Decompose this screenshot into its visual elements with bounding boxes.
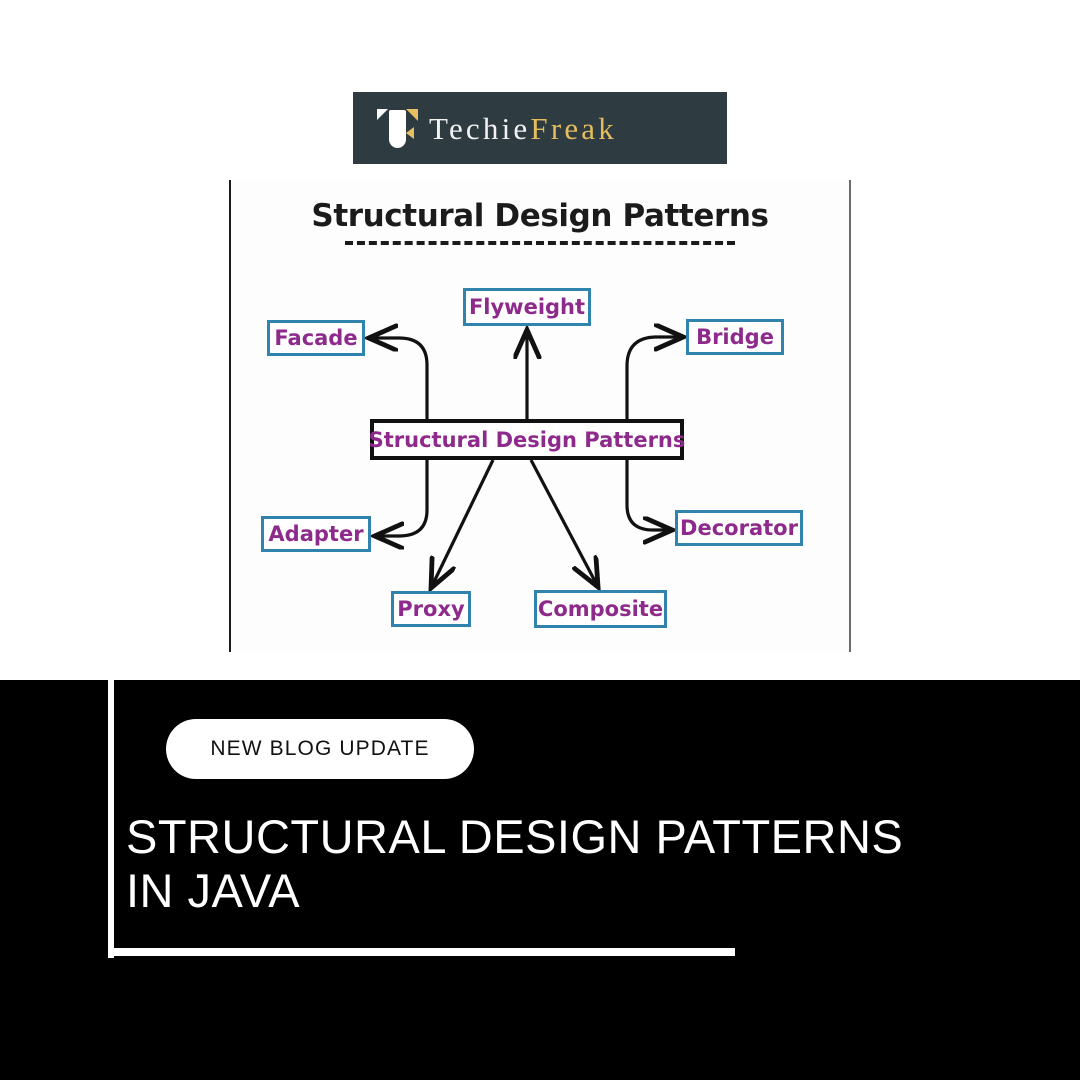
promo-headline-line1: STRUCTURAL DESIGN PATTERNS [126,810,946,864]
diagram-node-label: Facade [274,326,357,350]
promo-headline: STRUCTURAL DESIGN PATTERNS IN JAVA [126,810,946,918]
arrow-to-proxy [432,460,493,586]
diagram-node-label: Proxy [397,597,464,621]
diagram-node-composite[interactable]: Composite [534,590,667,628]
promo-headline-line2: IN JAVA [126,864,946,918]
poster-canvas: TechieFreak Structural Design Patterns [0,0,1080,1080]
arrow-to-bridge [627,337,681,419]
arrow-to-adapter [377,460,427,536]
diagram-node-label: Bridge [696,325,774,349]
diagram-node-label: Adapter [268,522,363,546]
arrow-to-facade [371,338,427,419]
diagram-node-label: Composite [538,597,663,621]
diagram-arrow-layer [231,180,853,652]
arrow-to-composite [531,460,597,585]
diagram-panel: Structural Design Patterns [229,180,851,652]
promo-banner-left-block [0,680,108,1080]
diagram-node-proxy[interactable]: Proxy [391,591,471,627]
diagram-center-label: Structural Design Patterns [369,428,686,452]
brand-logo-banner: TechieFreak [353,92,727,164]
brand-wordmark: TechieFreak [429,113,617,144]
diagram-node-adapter[interactable]: Adapter [261,516,371,552]
new-blog-update-badge[interactable]: NEW BLOG UPDATE [166,719,474,779]
promo-frame-vertical-line [108,680,114,958]
diagram-node-flyweight[interactable]: Flyweight [463,288,591,326]
badge-label: NEW BLOG UPDATE [210,737,429,761]
diagram-node-label: Flyweight [469,295,585,319]
techiefreak-logo-mark-icon [375,105,421,151]
diagram-node-facade[interactable]: Facade [267,320,365,356]
brand-name-part2: Freak [530,111,617,146]
diagram-node-center[interactable]: Structural Design Patterns [370,419,684,460]
arrow-to-decorator [627,460,670,530]
diagram-node-bridge[interactable]: Bridge [686,319,784,355]
promo-frame-horizontal-line [108,948,735,956]
diagram-node-decorator[interactable]: Decorator [675,510,803,546]
brand-name-part1: Techie [429,111,530,146]
diagram-node-label: Decorator [680,516,798,540]
